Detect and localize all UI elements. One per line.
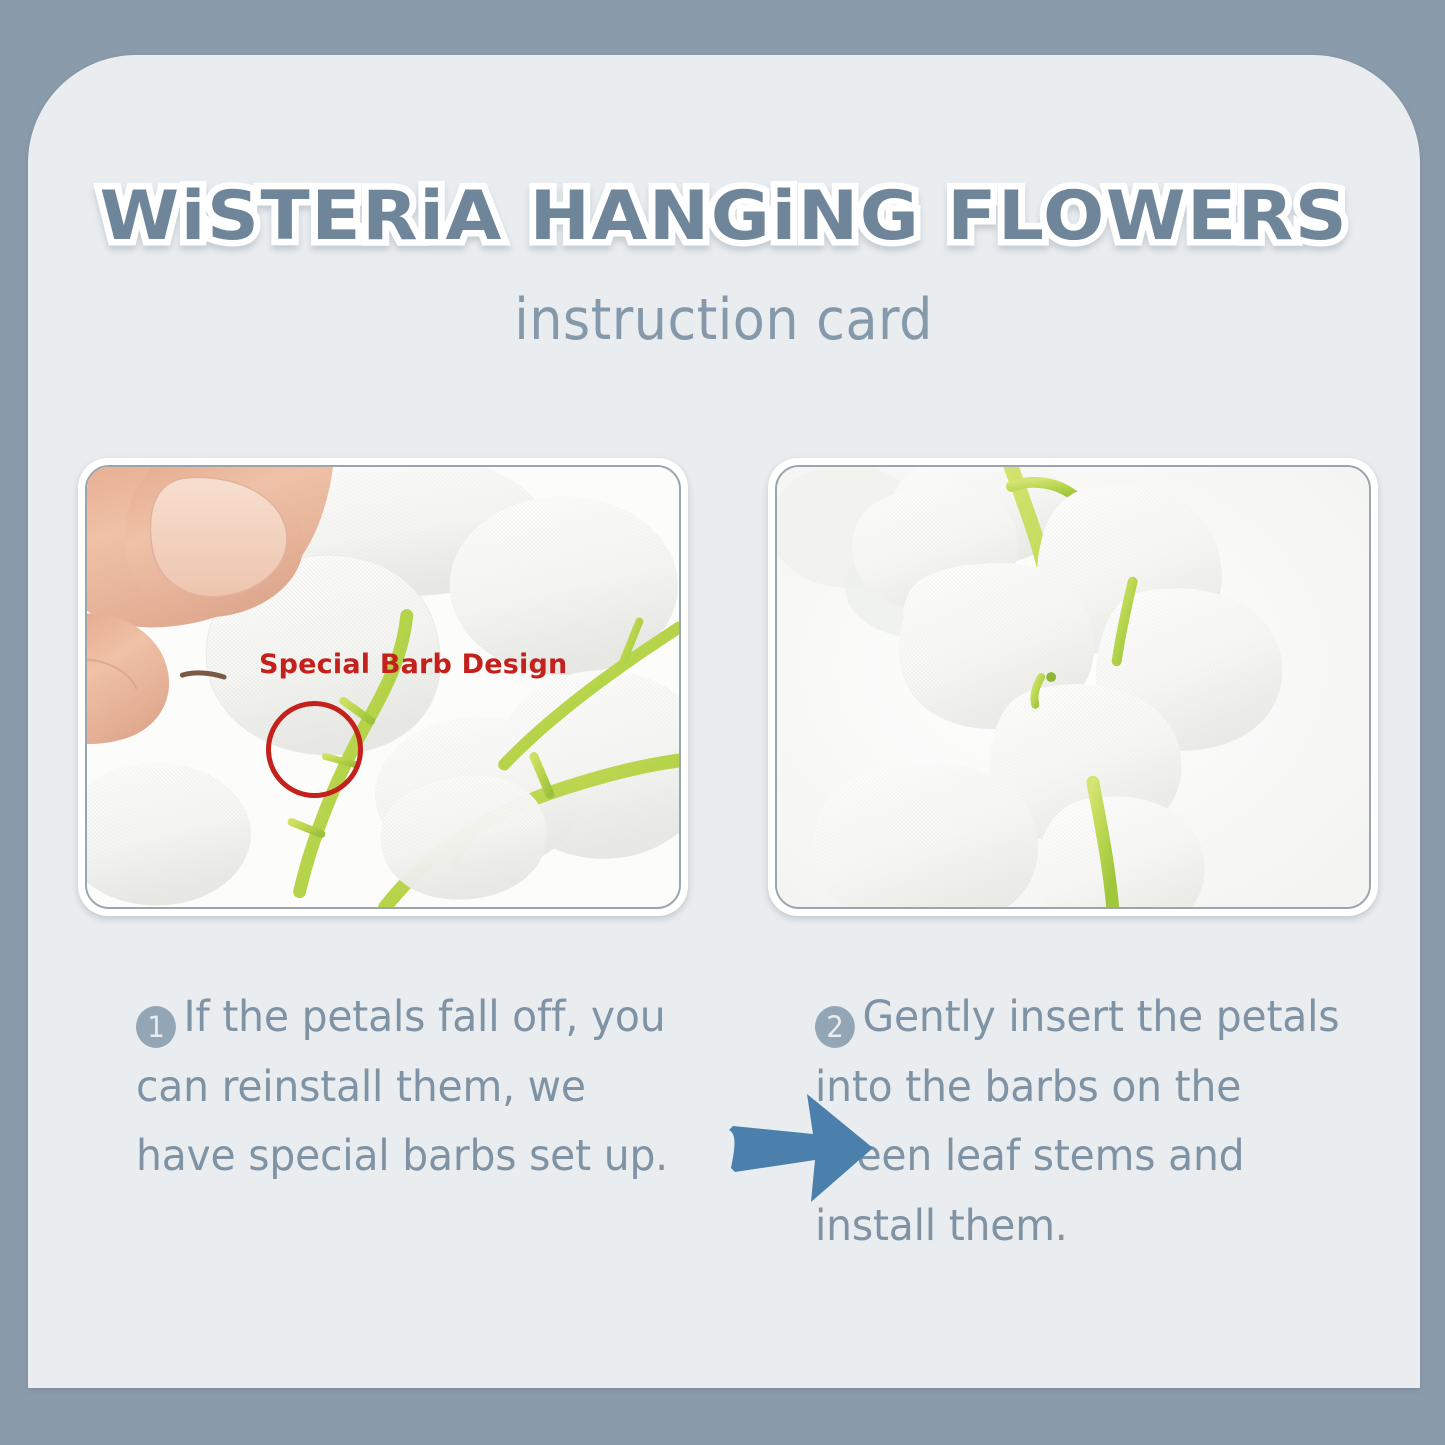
photo-row: Special Barb Design	[78, 458, 1378, 920]
step-one-badge: 1	[136, 1006, 176, 1048]
step-two: 2Gently insert the petals into the barbs…	[815, 983, 1352, 1262]
barb-closeup-illustration	[87, 467, 679, 907]
special-barb-design-label: Special Barb Design	[259, 649, 567, 680]
step-one: 1If the petals fall off, you can reinsta…	[136, 983, 673, 1192]
assembled-flower-illustration	[777, 467, 1369, 907]
step-two-text: Gently insert the petals into the barbs …	[815, 992, 1339, 1251]
assembled-flower-photo-image	[775, 465, 1371, 909]
barb-closeup-photo-image: Special Barb Design	[85, 465, 681, 909]
page-subtitle: instruction card	[515, 287, 934, 353]
right-arrow-icon	[723, 1090, 875, 1208]
page-title: WiSTERiA HANGiNG FLOWERS	[100, 177, 1349, 256]
right-arrow-shape	[723, 1090, 875, 1208]
step-two-badge: 2	[815, 1006, 855, 1048]
assembled-flower-photo	[768, 458, 1378, 916]
instruction-card-image: WiSTERiA HANGiNG FLOWERS instruction car…	[0, 0, 1445, 1445]
card-panel: WiSTERiA HANGiNG FLOWERS instruction car…	[28, 55, 1420, 1388]
barb-highlight-circle	[266, 701, 363, 798]
step-one-text: If the petals fall off, you can reinstal…	[136, 992, 668, 1181]
barb-closeup-photo: Special Barb Design	[78, 458, 688, 916]
page-subtitle-container: instruction card	[28, 287, 1420, 353]
page-title-container: WiSTERiA HANGiNG FLOWERS	[28, 177, 1420, 256]
